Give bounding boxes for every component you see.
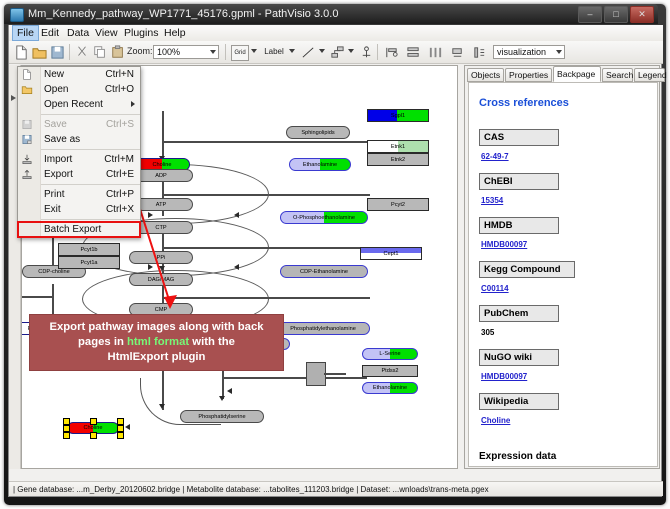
tab-objects[interactable]: Objects <box>467 68 504 82</box>
menu-item-save: Save Ctrl+S <box>18 117 140 132</box>
tab-legend[interactable]: Legend <box>634 68 665 82</box>
stack-icon[interactable] <box>405 44 424 62</box>
menu-item-exit-label: Exit <box>44 204 61 215</box>
xref-label-hmdb: HMDB <box>479 217 559 234</box>
interaction-icon[interactable] <box>329 44 348 62</box>
menu-item-exit-shortcut: Ctrl+X <box>106 202 134 217</box>
app-window: Mm_Kennedy_pathway_WP1771_45176.gpml - P… <box>0 0 670 509</box>
menu-item-import-shortcut: Ctrl+M <box>104 152 134 167</box>
annotation-line2c: with the <box>189 336 235 348</box>
menu-view[interactable]: View <box>91 26 122 40</box>
export-icon <box>21 169 33 180</box>
app-icon <box>10 8 24 22</box>
zoom-value: 100% <box>157 47 180 57</box>
menu-item-export-label: Export <box>44 169 73 180</box>
cross-references-title: Cross references <box>479 97 569 109</box>
menu-item-new[interactable]: New Ctrl+N <box>18 67 140 82</box>
grid-chevron-down-icon[interactable] <box>251 49 257 53</box>
anchor-icon[interactable] <box>358 44 377 62</box>
title-bar: Mm_Kennedy_pathway_WP1771_45176.gpml - P… <box>4 4 658 24</box>
xref-value-chebi[interactable]: 15354 <box>481 196 503 205</box>
label-chevron-down-icon[interactable] <box>289 49 295 53</box>
xref-label-pubchem: PubChem <box>479 305 559 322</box>
window-buttons: – □ ✕ <box>578 6 654 23</box>
new-icon[interactable] <box>13 44 32 62</box>
toolbar-separator-1 <box>69 44 70 60</box>
annotation-callout: Export pathway images along with back pa… <box>29 314 284 371</box>
copy-icon[interactable] <box>92 44 111 62</box>
xref-value-kegg[interactable]: C00114 <box>481 284 509 293</box>
xref-value-pubchem: 305 <box>481 328 494 337</box>
menu-item-open-recent-label: Open Recent <box>44 99 103 110</box>
toolbar-separator-3 <box>377 44 378 60</box>
floppy-icon <box>21 119 33 130</box>
xref-label-kegg: Kegg Compound <box>479 261 575 278</box>
menu-item-open-recent[interactable]: Open Recent <box>18 97 140 112</box>
expression-data-title: Expression data <box>479 451 556 462</box>
toolbar-separator-2 <box>225 44 226 60</box>
zoom-label: Zoom: <box>127 46 153 56</box>
close-button[interactable]: ✕ <box>630 6 654 23</box>
xref-value-hmdb[interactable]: HMDB00097 <box>481 240 527 249</box>
menu-item-print[interactable]: Print Ctrl+P <box>18 187 140 202</box>
menu-item-open-label: Open <box>44 84 68 95</box>
backpage-content: Cross references CAS 62-49-7 ChEBI 15354… <box>468 82 658 467</box>
menu-item-new-label: New <box>44 69 64 80</box>
menu-item-export[interactable]: Export Ctrl+E <box>18 167 140 182</box>
right-panel: Objects Properties Backpage Search Legen… <box>464 65 660 469</box>
distribute-icon[interactable] <box>427 44 446 62</box>
annotation-line1: Export pathway images along with back <box>49 321 263 333</box>
annotation-line2a: pages in <box>78 336 127 348</box>
menu-item-save-as[interactable]: Save as <box>18 132 140 147</box>
xref-value-cas[interactable]: 62-49-7 <box>481 152 509 161</box>
status-bar: | Gene database: ...m_Derby_20120602.bri… <box>9 481 663 496</box>
minimize-button[interactable]: – <box>578 6 602 23</box>
xref-value-nugo[interactable]: HMDB00097 <box>481 372 527 381</box>
menu-item-exit[interactable]: Exit Ctrl+X <box>18 202 140 217</box>
zoom-combobox[interactable]: 100% <box>153 45 219 59</box>
visualization-value: visualization <box>497 47 546 57</box>
window-title: Mm_Kennedy_pathway_WP1771_45176.gpml - P… <box>28 4 338 24</box>
menu-bar: File Edit Data View Plugins Help <box>9 25 663 42</box>
xref-label-chebi: ChEBI <box>479 173 559 190</box>
tab-properties[interactable]: Properties <box>505 68 552 82</box>
app-client-area: File Edit Data View Plugins Help Zoom: <box>8 25 662 497</box>
interaction-chevron-down-icon[interactable] <box>348 49 354 53</box>
visualization-combobox[interactable]: visualization <box>493 45 565 59</box>
xref-value-wikipedia[interactable]: Choline <box>481 416 510 425</box>
annotation-line2b: html format <box>127 336 189 348</box>
new-page-icon <box>21 69 33 80</box>
annotation-line3: HtmlExport plugin <box>108 351 206 363</box>
folder-icon <box>21 84 33 95</box>
right-panel-tabs: Objects Properties Backpage Search Legen… <box>465 66 661 82</box>
menu-item-export-shortcut: Ctrl+E <box>106 167 134 182</box>
tab-backpage[interactable]: Backpage <box>553 66 601 82</box>
group-icon[interactable] <box>449 44 468 62</box>
label-button[interactable]: Label <box>262 45 286 59</box>
line-chevron-down-icon[interactable] <box>319 49 325 53</box>
ruler-tick-icon <box>11 95 16 101</box>
menu-item-print-shortcut: Ctrl+P <box>106 187 134 202</box>
menu-item-save-shortcut: Ctrl+S <box>106 117 134 132</box>
line-icon[interactable] <box>300 44 319 62</box>
menu-item-open[interactable]: Open Ctrl+O <box>18 82 140 97</box>
xref-label-cas: CAS <box>479 129 559 146</box>
menu-item-print-label: Print <box>44 189 65 200</box>
chevron-down-icon <box>210 50 216 54</box>
menu-item-save-as-label: Save as <box>44 134 80 145</box>
menu-item-open-shortcut: Ctrl+O <box>105 82 134 97</box>
chevron-down-icon <box>556 50 562 54</box>
order-icon[interactable] <box>471 44 490 62</box>
file-menu-dropdown[interactable]: New Ctrl+N Open Ctrl+O Open Recent Save … <box>17 66 141 238</box>
menu-item-batch-export[interactable]: Batch Export <box>18 222 140 237</box>
grid-button[interactable]: Grid <box>231 45 249 61</box>
tab-search[interactable]: Search <box>602 68 633 82</box>
toolbar: Zoom: 100% Grid Label <box>9 41 663 64</box>
cut-icon[interactable] <box>74 44 93 62</box>
menu-data[interactable]: Data <box>63 26 93 40</box>
xref-label-wikipedia: Wikipedia <box>479 393 559 410</box>
xref-label-nugo: NuGO wiki <box>479 349 559 366</box>
floppy-as-icon <box>21 134 33 145</box>
menu-item-import-label: Import <box>44 154 72 165</box>
import-icon <box>21 154 33 165</box>
menu-item-save-label: Save <box>44 119 67 130</box>
menu-item-new-shortcut: Ctrl+N <box>105 67 134 82</box>
open-icon[interactable] <box>31 44 50 62</box>
menu-plugins[interactable]: Plugins <box>120 26 162 40</box>
menu-file[interactable]: File <box>12 25 39 41</box>
menu-item-batch-export-label: Batch Export <box>44 224 101 235</box>
menu-item-import[interactable]: Import Ctrl+M <box>18 152 140 167</box>
align-icon[interactable] <box>383 44 402 62</box>
submenu-chevron-right-icon <box>131 101 135 107</box>
maximize-button[interactable]: □ <box>604 6 628 23</box>
save-icon[interactable] <box>49 44 68 62</box>
menu-edit[interactable]: Edit <box>37 26 63 40</box>
menu-help[interactable]: Help <box>160 26 190 40</box>
